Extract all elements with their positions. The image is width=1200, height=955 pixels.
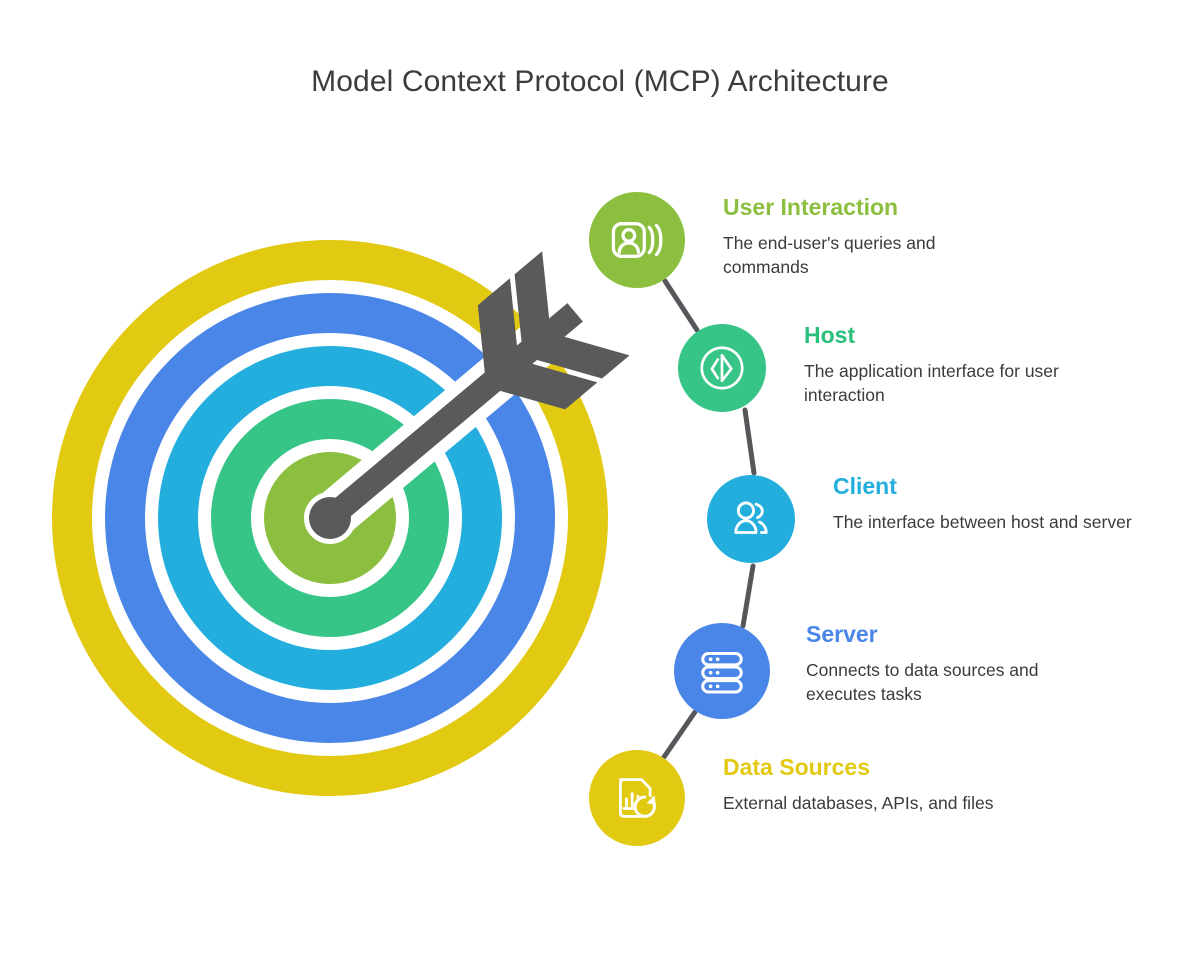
step-badge-client[interactable] <box>707 475 795 563</box>
step-description-data-sources: External databases, APIs, and files <box>723 791 1013 816</box>
connector-3-4 <box>743 566 753 626</box>
connector-4-5 <box>664 712 695 757</box>
step-title-client: Client <box>833 473 1143 501</box>
step-text-client: Client The interface between host and se… <box>833 473 1143 534</box>
users-group-icon <box>724 492 778 546</box>
step-description-host: The application interface for user inter… <box>804 359 1094 409</box>
step-badge-data-sources[interactable] <box>589 750 685 846</box>
step-description-server: Connects to data sources and executes ta… <box>806 658 1106 708</box>
step-text-host: Host The application interface for user … <box>804 322 1094 408</box>
step-badge-user-interaction[interactable] <box>589 192 685 288</box>
step-description-user-interaction: The end-user's queries and commands <box>723 231 993 281</box>
step-title-data-sources: Data Sources <box>723 754 1013 782</box>
connector-1-2 <box>665 281 697 330</box>
step-title-host: Host <box>804 322 1094 350</box>
connector-2-3 <box>745 410 754 473</box>
infographic-canvas: Model Context Protocol (MCP) Architectur… <box>0 0 1200 955</box>
step-badge-host[interactable] <box>678 324 766 412</box>
step-title-server: Server <box>806 621 1106 649</box>
step-badge-server[interactable] <box>674 623 770 719</box>
document-chart-refresh-icon <box>609 770 665 826</box>
step-description-client: The interface between host and server <box>833 510 1143 535</box>
user-broadcast-icon <box>608 211 666 269</box>
host-leaf-brackets-icon <box>695 341 749 395</box>
step-title-user-interaction: User Interaction <box>723 194 993 222</box>
step-text-server: Server Connects to data sources and exec… <box>806 621 1106 707</box>
step-text-user-interaction: User Interaction The end-user's queries … <box>723 194 993 280</box>
step-text-data-sources: Data Sources External databases, APIs, a… <box>723 754 1013 815</box>
server-rack-icon <box>694 643 750 699</box>
